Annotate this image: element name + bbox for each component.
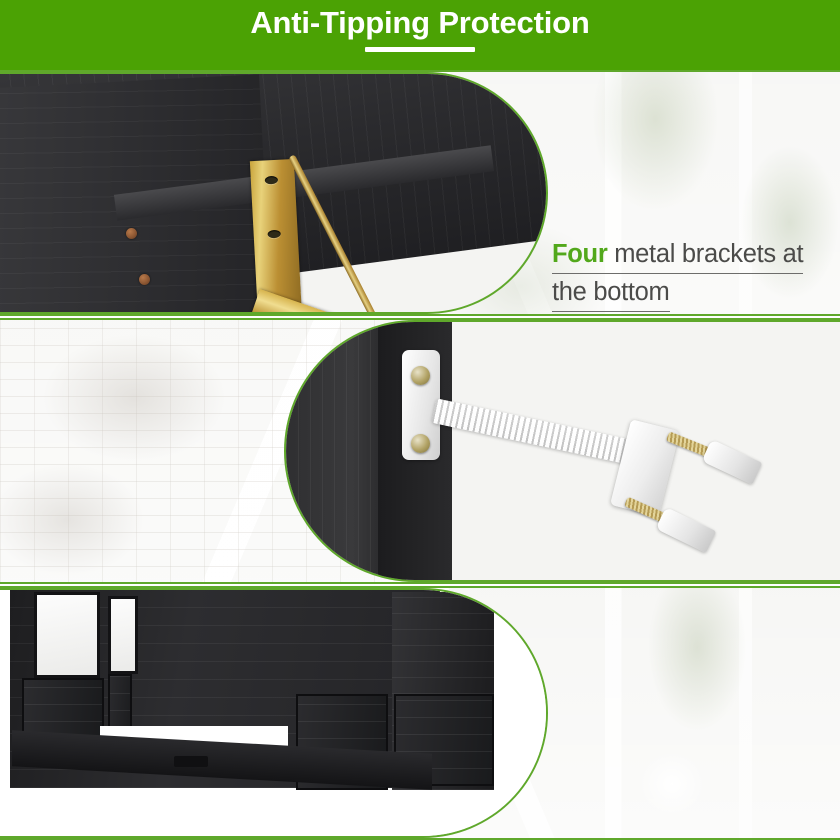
glass-pane (108, 596, 138, 674)
screw-head-icon (411, 434, 430, 453)
panel-1-bottom-rule (0, 314, 840, 316)
caption-line: the bottom (552, 274, 670, 312)
header-banner: Anti-Tipping Protection (0, 0, 840, 70)
panel-2-bottom-rule (0, 582, 840, 584)
anti-topple-strap-photo (284, 320, 840, 582)
wood-screw-icon (126, 228, 137, 239)
feature-panel-brackets: Four metal brackets at the bottom (0, 70, 840, 316)
wall-anchor (702, 439, 763, 484)
feature-panel-flat-bottom: The flat-bottom design also enhances sta… (0, 586, 840, 840)
glass-pane (34, 592, 100, 678)
wood-screw-icon (139, 274, 150, 285)
caption-accent-word: Four (552, 240, 607, 268)
screw-head-icon (411, 366, 430, 385)
base-hardware (174, 756, 208, 767)
page-title: Anti-Tipping Protection (250, 3, 589, 43)
flat-bottom-base-photo (0, 588, 548, 838)
caption-text: the bottom (552, 278, 670, 306)
wall-anchor (656, 507, 717, 553)
caption-brackets: Four metal brackets at the bottom (552, 236, 803, 312)
feature-panel-anti-topple: Two anti-topple over sets at the top (0, 318, 840, 584)
caption-text: metal brackets at (607, 240, 803, 268)
bracket-hole (267, 230, 280, 239)
bracket-horizontal-arm (248, 289, 411, 314)
anti-tip-strap (431, 398, 644, 467)
header-underline (365, 47, 475, 52)
metal-bracket-photo (0, 72, 548, 314)
caption-line: Four metal brackets at (552, 236, 803, 274)
bracket-hole (265, 176, 278, 185)
infographic-page: Anti-Tipping Protection (0, 0, 840, 840)
bracket-vertical-arm (250, 159, 302, 314)
